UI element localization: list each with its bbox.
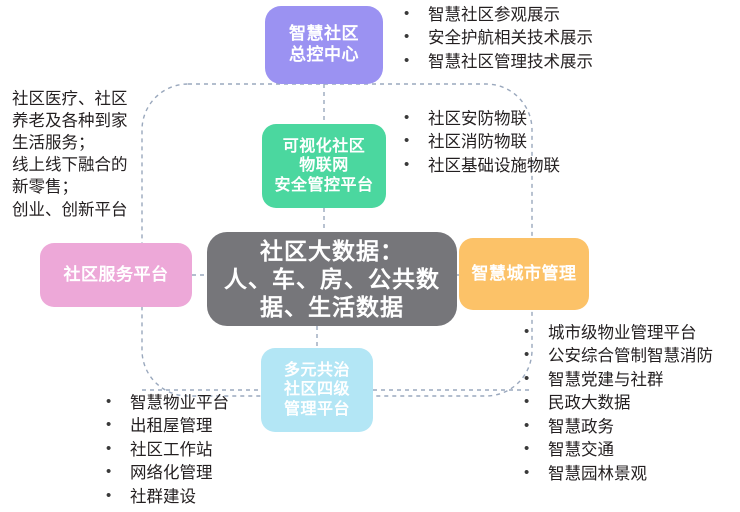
annotation-line-4: 线上线下融合的 xyxy=(12,154,128,176)
node-smart-community-control-center[interactable]: 智慧社区 总控中心 xyxy=(265,6,383,84)
node-smart-city-management[interactable]: 智慧城市管理 xyxy=(459,238,589,310)
list-item: 网络化管理 xyxy=(100,462,229,485)
list-item: 民政大数据 xyxy=(518,392,713,415)
node-community-big-data[interactable]: 社区大数据： 人、车、房、公共数 据、生活数据 xyxy=(207,232,457,326)
diagram-canvas: 智慧社区 总控中心 可视化社区 物联网 安全管控平台 社区服务平台 智慧城市管理… xyxy=(0,0,740,512)
list-item: 社区消防物联 xyxy=(398,131,560,154)
node-control-line-1: 智慧社区 xyxy=(289,24,359,45)
list-item: 社区安防物联 xyxy=(398,108,560,131)
node-gov-line-2: 社区四级 xyxy=(284,380,350,400)
bullets-iot-platform: 社区安防物联 社区消防物联 社区基础设施物联 xyxy=(398,108,560,178)
list-item: 公安综合管制智慧消防 xyxy=(518,345,713,368)
list-item: 智慧政务 xyxy=(518,416,713,439)
node-service-line-1: 社区服务平台 xyxy=(64,265,169,286)
bullets-control-center: 智慧社区参观展示 安全护航相关技术展示 智慧社区管理技术展示 xyxy=(398,4,593,74)
annotation-line-5: 新零售； xyxy=(12,176,128,198)
list-item: 安全护航相关技术展示 xyxy=(398,27,593,50)
list-item: 社区基础设施物联 xyxy=(398,155,560,178)
node-community-service-platform[interactable]: 社区服务平台 xyxy=(40,243,192,307)
node-gov-line-1: 多元共治 xyxy=(284,361,350,381)
node-control-line-2: 总控中心 xyxy=(289,45,359,66)
list-item: 城市级物业管理平台 xyxy=(518,322,713,345)
bullets-smart-city: 城市级物业管理平台 公安综合管制智慧消防 智慧党建与社群 民政大数据 智慧政务 … xyxy=(518,322,713,486)
annotation-line-2: 养老及各种到家 xyxy=(12,110,128,132)
list-item: 智慧社区参观展示 xyxy=(398,4,593,27)
node-center-line-1: 社区大数据： xyxy=(224,237,440,265)
annotation-community-services: 社区医疗、社区 养老及各种到家 生活服务； 线上线下融合的 新零售； 创业、创新… xyxy=(12,88,128,221)
list-item: 出租屋管理 xyxy=(100,415,229,438)
node-iot-line-2: 物联网 xyxy=(274,156,373,176)
list-item: 智慧交通 xyxy=(518,439,713,462)
node-iot-line-3: 安全管控平台 xyxy=(274,176,373,196)
list-item: 智慧社区管理技术展示 xyxy=(398,51,593,74)
list-item: 社区工作站 xyxy=(100,439,229,462)
node-center-line-3: 据、生活数据 xyxy=(224,293,440,321)
list-item: 智慧党建与社群 xyxy=(518,369,713,392)
annotation-line-1: 社区医疗、社区 xyxy=(12,88,128,110)
list-item: 智慧园林景观 xyxy=(518,463,713,486)
node-city-line-1: 智慧城市管理 xyxy=(472,264,577,285)
bullets-governance-platform: 智慧物业平台 出租屋管理 社区工作站 网络化管理 社群建设 xyxy=(100,392,229,509)
annotation-line-6: 创业、创新平台 xyxy=(12,199,128,221)
node-iot-line-1: 可视化社区 xyxy=(274,137,373,157)
node-gov-line-3: 管理平台 xyxy=(284,400,350,420)
list-item: 社群建设 xyxy=(100,486,229,509)
node-center-line-2: 人、车、房、公共数 xyxy=(224,265,440,293)
annotation-line-3: 生活服务； xyxy=(12,132,128,154)
node-visual-community-iot-platform[interactable]: 可视化社区 物联网 安全管控平台 xyxy=(262,124,386,208)
node-multi-governance-four-level-platform[interactable]: 多元共治 社区四级 管理平台 xyxy=(261,348,373,432)
list-item: 智慧物业平台 xyxy=(100,392,229,415)
